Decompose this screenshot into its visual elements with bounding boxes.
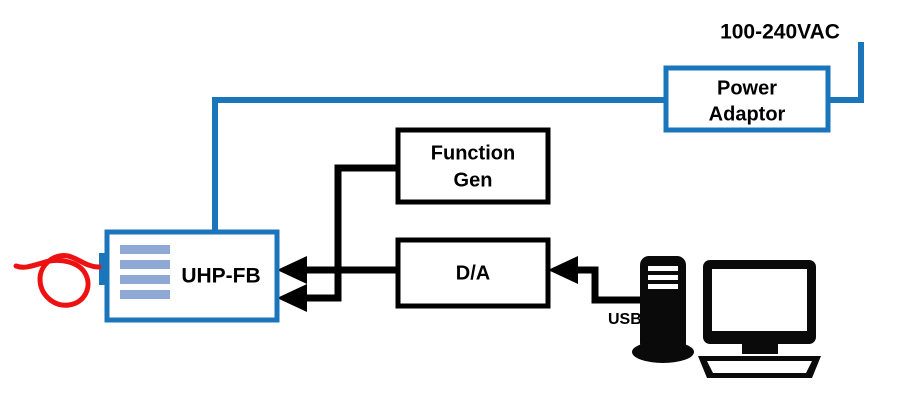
da-converter-label: D/A (456, 262, 490, 284)
function-gen-node[interactable]: Function Gen (398, 130, 548, 202)
panel-bar (120, 260, 170, 269)
diagram-canvas-container: 100-240VAC Power Adaptor Function Gen (0, 0, 900, 400)
power-adaptor-label-line1: Power (717, 77, 777, 99)
da-converter-node[interactable]: D/A (398, 240, 548, 306)
uhp-fb-node[interactable]: UHP-FB (99, 232, 277, 320)
arrowhead-da-to-uhpfb (277, 256, 307, 284)
power-adaptor-node[interactable]: Power Adaptor (666, 68, 828, 130)
power-adaptor-label-line2: Adaptor (709, 103, 786, 125)
tower-slot (648, 284, 678, 289)
function-gen-label-line1: Function (431, 142, 515, 164)
fiber-cable-icon (16, 256, 99, 306)
arrowhead-functiongen-to-uhpfb (277, 284, 307, 312)
tower-slot (648, 266, 678, 271)
wire-mains-to-adaptor (828, 42, 861, 100)
mains-voltage-label: 100-240VAC (720, 21, 840, 44)
monitor-screen (712, 269, 807, 331)
function-gen-label-line2: Gen (454, 169, 493, 191)
tower-slot (648, 275, 678, 280)
computer-tower-icon[interactable] (632, 256, 694, 363)
fiber-loop-path (16, 256, 99, 306)
monitor-icon[interactable] (698, 260, 821, 378)
keyboard-surface (707, 361, 812, 373)
usb-cable-label: USB (608, 311, 642, 328)
tower-base (632, 341, 694, 363)
panel-bar (120, 275, 170, 284)
panel-bar (120, 290, 170, 299)
panel-bar (120, 245, 170, 254)
block-diagram: 100-240VAC Power Adaptor Function Gen (0, 0, 900, 400)
uhp-fb-label: UHP-FB (181, 265, 260, 288)
monitor-stand-neck (742, 340, 778, 354)
arrowhead-usb-to-da (548, 256, 578, 284)
